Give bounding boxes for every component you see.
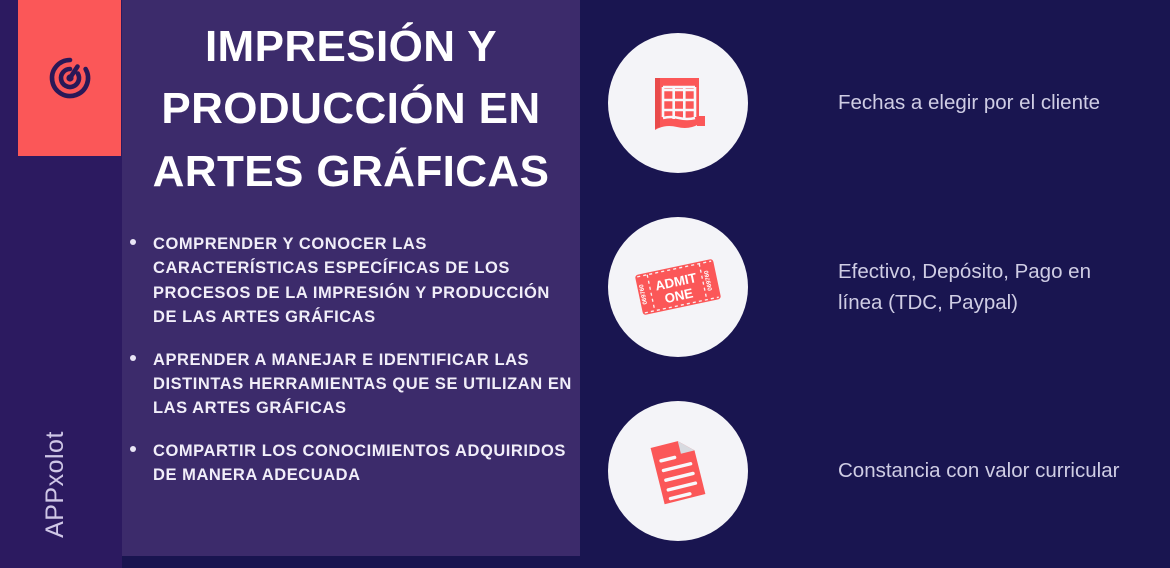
bullet-dot-icon — [130, 355, 136, 361]
feature-icon-circle — [608, 33, 748, 173]
feature-text: Efectivo, Depósito, Pago en línea (TDC, … — [838, 256, 1138, 318]
feature-text: Constancia con valor curricular — [838, 455, 1119, 486]
features-list: Fechas a elegir por el cliente ADM — [608, 22, 1148, 568]
list-item: Fechas a elegir por el cliente — [608, 22, 1148, 184]
ticket-admit-one-icon: ADMIT ONE 069760 069760 — [632, 256, 724, 318]
list-item: COMPRENDER Y CONOCER LAS CARACTERÍSTICAS… — [124, 232, 576, 330]
calendar-icon — [643, 68, 713, 138]
list-item: ADMIT ONE 069760 069760 Efectivo, Depósi… — [608, 206, 1148, 368]
title-line-2: PRODUCCIÓN EN — [134, 78, 568, 140]
bullet-text: COMPARTIR LOS CONOCIMIENTOS ADQUIRIDOS D… — [153, 442, 566, 484]
page-title: IMPRESIÓN Y PRODUCCIÓN EN ARTES GRÁFICAS — [134, 16, 568, 203]
feature-icon-circle: ADMIT ONE 069760 069760 — [608, 217, 748, 357]
title-line-3: ARTES GRÁFICAS — [134, 141, 568, 203]
feature-icon-circle — [608, 401, 748, 541]
slide-canvas: APPxolot IMPRESIÓN Y PRODUCCIÓN EN ARTES… — [0, 0, 1170, 568]
bullet-dot-icon — [130, 239, 136, 245]
list-item: APRENDER A MANEJAR E IDENTIFICAR LAS DIS… — [124, 348, 576, 421]
brand-name: APPxolot — [41, 431, 70, 538]
title-line-1: IMPRESIÓN Y — [134, 16, 568, 78]
bullet-text: APRENDER A MANEJAR E IDENTIFICAR LAS DIS… — [153, 351, 572, 418]
document-certificate-icon — [643, 434, 713, 508]
target-radar-icon — [44, 52, 96, 104]
list-item: Constancia con valor curricular — [608, 390, 1148, 552]
list-item: COMPARTIR LOS CONOCIMIENTOS ADQUIRIDOS D… — [124, 439, 576, 488]
bullet-dot-icon — [130, 446, 136, 452]
objectives-list: COMPRENDER Y CONOCER LAS CARACTERÍSTICAS… — [124, 232, 576, 506]
bullet-text: COMPRENDER Y CONOCER LAS CARACTERÍSTICAS… — [153, 235, 550, 326]
brand-wordmark: APPxolot — [0, 404, 116, 564]
logo-block — [18, 0, 121, 156]
feature-text: Fechas a elegir por el cliente — [838, 87, 1100, 118]
